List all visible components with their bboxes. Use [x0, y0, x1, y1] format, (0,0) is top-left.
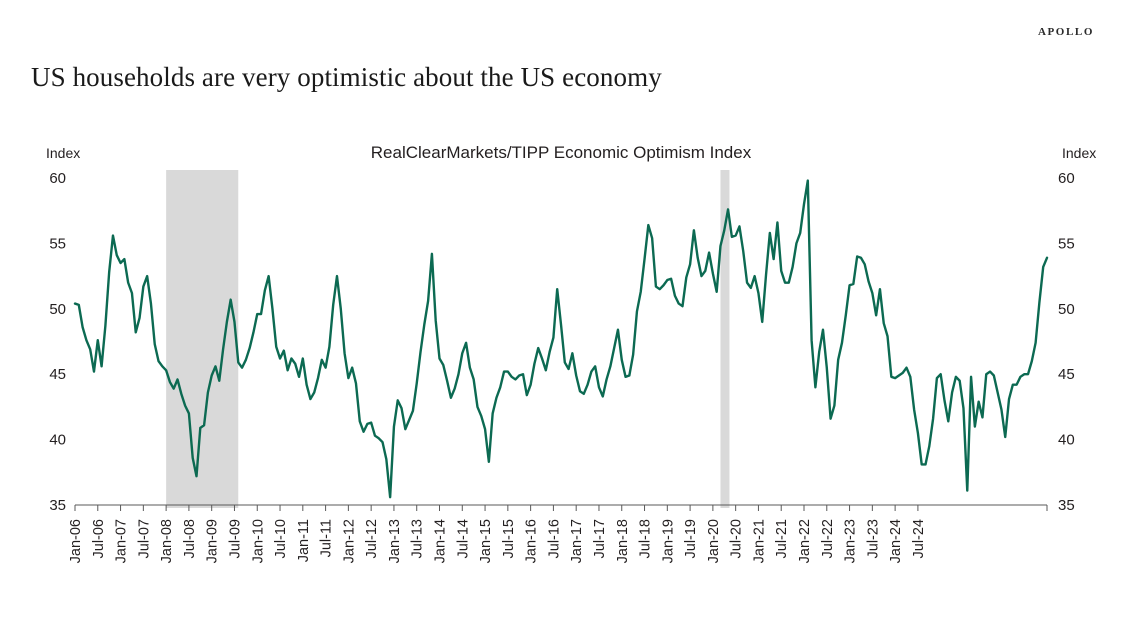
- y-axis-tick-label-left: 60: [49, 170, 66, 187]
- x-axis-tick-label: Jul-21: [774, 519, 790, 559]
- x-axis-tick-label: Jul-07: [136, 519, 152, 559]
- x-axis-tick-label: Jul-06: [91, 519, 107, 559]
- y-axis-tick-label-right: 40: [1058, 432, 1075, 449]
- x-axis-tick-label: Jan-20: [706, 519, 722, 563]
- x-axis-tick-label: Jan-11: [296, 519, 312, 562]
- x-axis-tick-label: Jul-23: [865, 519, 881, 559]
- x-axis-tick-label: Jul-19: [683, 519, 699, 559]
- x-axis-tick-label: Jan-08: [159, 519, 175, 563]
- y-axis-tick-label-left: 55: [49, 235, 66, 252]
- left-axis-unit-label: Index: [46, 145, 80, 161]
- x-axis-tick-label: Jan-22: [797, 519, 813, 563]
- x-axis-tick-label: Jul-17: [592, 519, 608, 559]
- x-axis-tick-label: Jul-16: [546, 519, 562, 559]
- chart-title: RealClearMarkets/TIPP Economic Optimism …: [371, 143, 752, 162]
- x-axis-tick-label: Jul-11: [319, 519, 335, 557]
- x-axis-tick-label: Jan-07: [114, 519, 130, 563]
- x-axis-tick-label: Jul-08: [182, 519, 198, 559]
- x-axis-tick-label: Jul-10: [273, 519, 289, 559]
- chart-container: Jan-06Jul-06Jan-07Jul-07Jan-08Jul-08Jan-…: [0, 130, 1122, 600]
- x-axis-tick-label: Jul-20: [729, 519, 745, 559]
- x-axis-tick-label: Jan-24: [888, 519, 904, 563]
- x-axis-tick-label: Jan-23: [843, 519, 859, 563]
- recession-band-great-recession: [166, 170, 238, 508]
- y-axis-tick-label-right: 55: [1058, 235, 1075, 252]
- y-axis-tick-label-right: 45: [1058, 366, 1075, 383]
- y-axis-tick-label-right: 60: [1058, 170, 1075, 187]
- x-axis-tick-label: Jan-18: [615, 519, 631, 563]
- x-axis-tick-label: Jan-14: [433, 519, 449, 563]
- x-axis-tick-label: Jan-21: [751, 519, 767, 563]
- x-axis-tick-label: Jul-13: [410, 519, 426, 559]
- x-axis-tick-label: Jan-16: [524, 519, 540, 563]
- x-axis-tick-label: Jul-15: [501, 519, 517, 559]
- apollo-logo: APOLLO: [1038, 26, 1094, 38]
- x-axis-tick-label: Jan-06: [68, 519, 84, 563]
- y-axis-tick-label-left: 40: [49, 432, 66, 449]
- y-axis-tick-label-left: 50: [49, 301, 66, 318]
- y-axis-tick-label-right: 50: [1058, 301, 1075, 318]
- x-axis-tick-label: Jan-15: [478, 519, 494, 563]
- y-axis-tick-label-left: 45: [49, 366, 66, 383]
- y-axis-tick-label-left: 35: [49, 497, 66, 514]
- x-axis-tick-label: Jul-22: [820, 519, 836, 559]
- x-tick-labels-group: Jan-06Jul-06Jan-07Jul-07Jan-08Jul-08Jan-…: [68, 519, 927, 563]
- x-axis-tick-label: Jul-12: [364, 519, 380, 559]
- x-axis-tick-label: Jan-19: [660, 519, 676, 563]
- x-axis-tick-label: Jul-14: [455, 519, 471, 559]
- x-axis-tick-label: Jan-13: [387, 519, 403, 563]
- x-axis-tick-label: Jul-24: [911, 519, 927, 559]
- x-axis-tick-label: Jul-18: [638, 519, 654, 559]
- y-axis-tick-label-right: 35: [1058, 497, 1075, 514]
- x-axis-tick-label: Jan-10: [250, 519, 266, 563]
- x-axis-tick-label: Jul-09: [227, 519, 243, 559]
- x-axis-tick-label: Jan-09: [205, 519, 221, 563]
- x-axis-tick-label: Jan-17: [569, 519, 585, 563]
- page-title: US households are very optimistic about …: [31, 62, 662, 93]
- economic-optimism-line-chart: Jan-06Jul-06Jan-07Jul-07Jan-08Jul-08Jan-…: [0, 130, 1122, 600]
- x-axis-tick-label: Jan-12: [341, 519, 357, 563]
- right-axis-unit-label: Index: [1062, 145, 1096, 161]
